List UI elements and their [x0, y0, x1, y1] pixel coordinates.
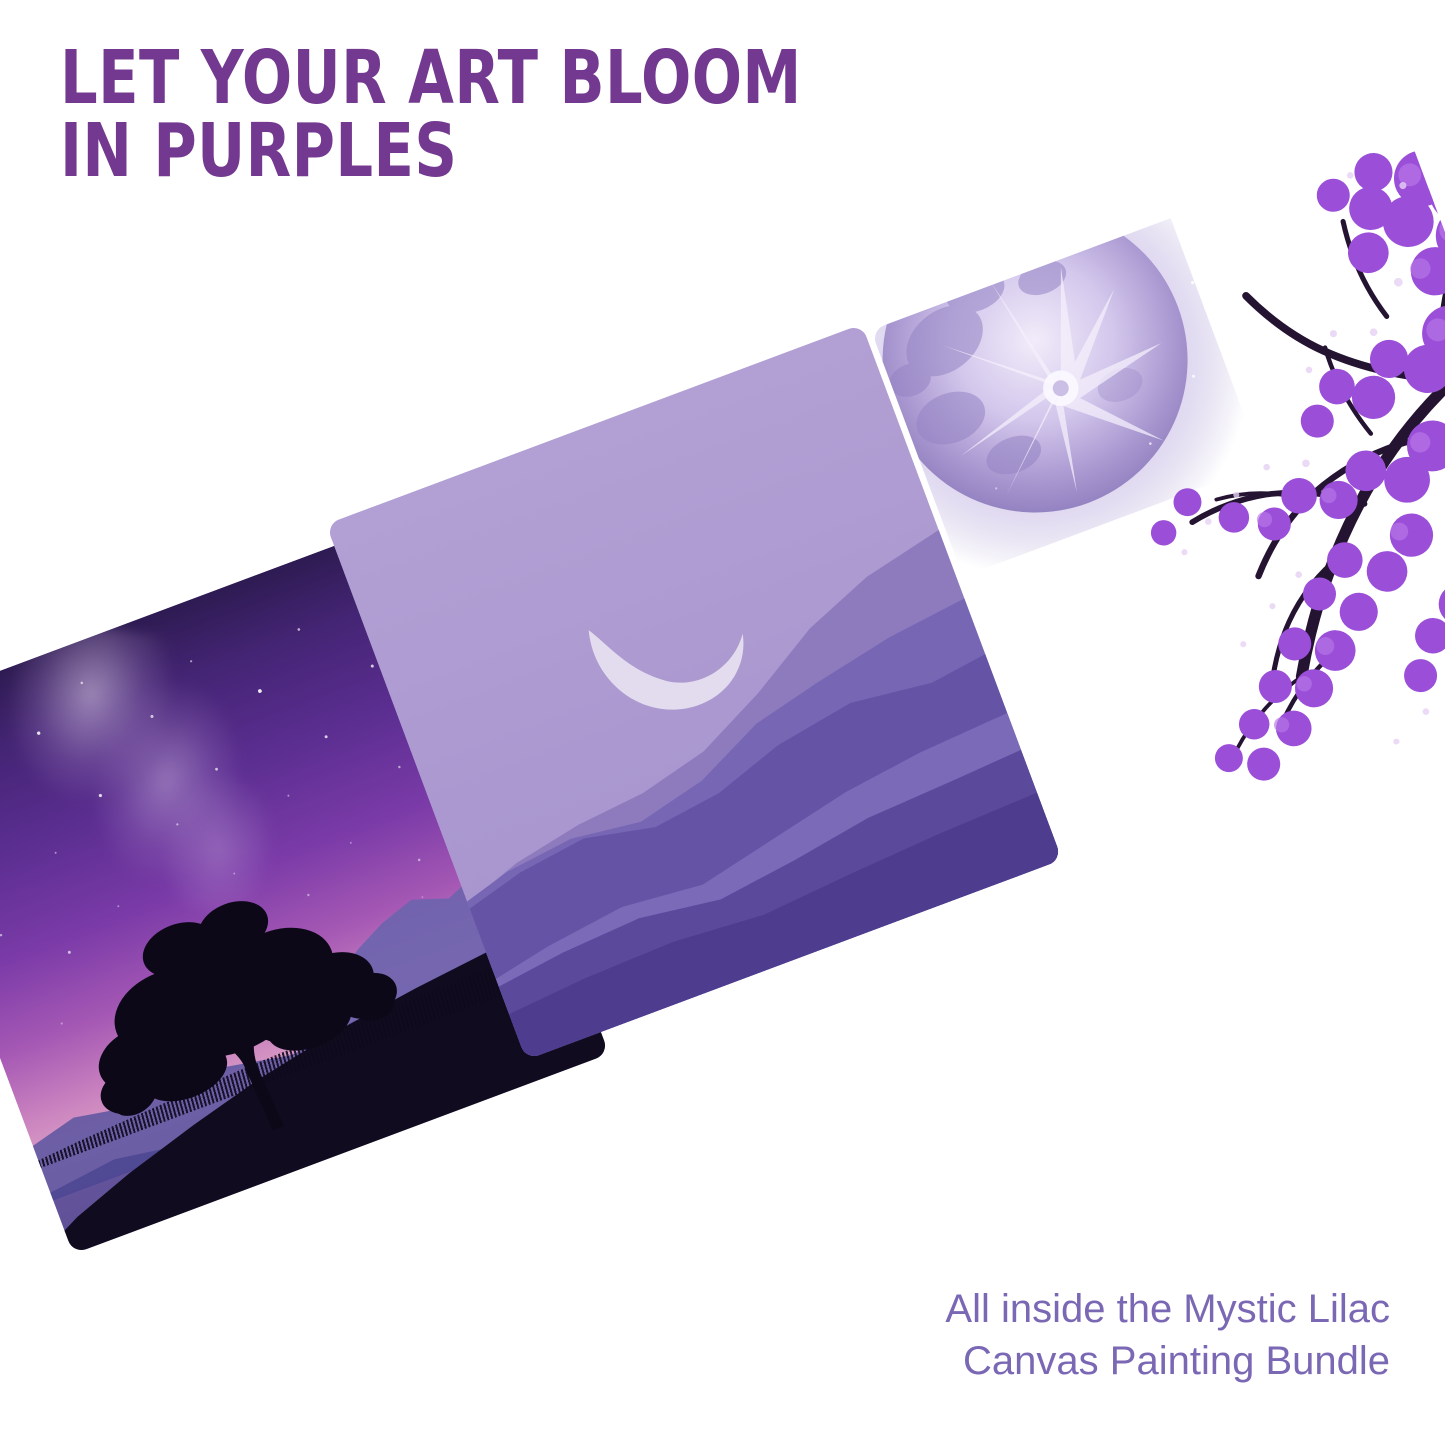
poster-canvas: LET YOUR ART BLOOM IN PURPLES — [0, 0, 1445, 1445]
bundle-caption: All inside the Mystic Lilac Canvas Paint… — [945, 1283, 1390, 1387]
page-title: LET YOUR ART BLOOM IN PURPLES — [60, 42, 820, 187]
